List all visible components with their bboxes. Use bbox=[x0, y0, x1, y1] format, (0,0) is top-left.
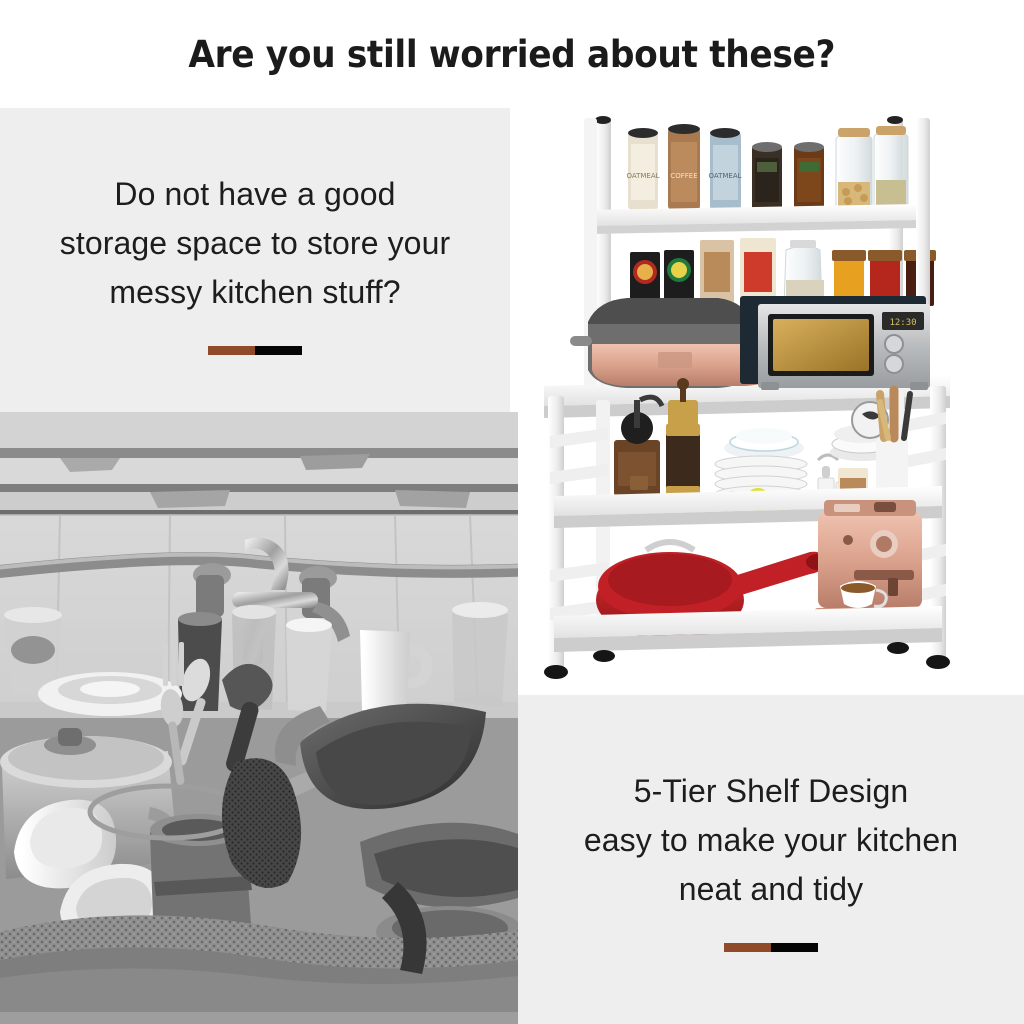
divider-segment-brown bbox=[208, 346, 255, 355]
problem-panel-inner: Do not have a good storage space to stor… bbox=[0, 170, 510, 355]
problem-line-1: Do not have a good bbox=[0, 170, 510, 219]
problem-line-3: messy kitchen stuff? bbox=[0, 268, 510, 317]
problem-text: Do not have a good storage space to stor… bbox=[0, 170, 510, 317]
solution-text-panel: 5-Tier Shelf Design easy to make your ki… bbox=[518, 695, 1024, 1024]
solution-line-3: neat and tidy bbox=[518, 865, 1024, 914]
dirty-dishes-illustration bbox=[0, 412, 518, 1024]
solution-panel-inner: 5-Tier Shelf Design easy to make your ki… bbox=[518, 767, 1024, 952]
promo-page: Are you still worried about these? Do no… bbox=[0, 0, 1024, 1024]
five-tier-shelf-illustration: OATMEAL COFFEE OATMEAL bbox=[518, 100, 1024, 695]
svg-text:12:30: 12:30 bbox=[889, 318, 916, 328]
page-title: Are you still worried about these? bbox=[189, 33, 836, 76]
divider-segment-brown bbox=[724, 943, 771, 952]
divider-segment-black bbox=[771, 943, 818, 952]
solution-text: 5-Tier Shelf Design easy to make your ki… bbox=[518, 767, 1024, 914]
problem-divider bbox=[208, 346, 302, 355]
solution-line-2: easy to make your kitchen bbox=[518, 816, 1024, 865]
shelf-product-image: OATMEAL COFFEE OATMEAL bbox=[518, 100, 1024, 695]
svg-text:OATMEAL: OATMEAL bbox=[708, 172, 741, 180]
header-banner: Are you still worried about these? bbox=[0, 0, 1024, 108]
problem-text-panel: Do not have a good storage space to stor… bbox=[0, 108, 510, 412]
divider-segment-black bbox=[255, 346, 302, 355]
svg-text:COFFEE: COFFEE bbox=[670, 172, 697, 180]
svg-text:OATMEAL: OATMEAL bbox=[626, 172, 659, 180]
solution-divider bbox=[724, 943, 818, 952]
dirty-dishes-photo bbox=[0, 412, 518, 1024]
solution-line-1: 5-Tier Shelf Design bbox=[518, 767, 1024, 816]
tier-3-items: 12:30 bbox=[570, 296, 930, 390]
problem-line-2: storage space to store your bbox=[0, 219, 510, 268]
